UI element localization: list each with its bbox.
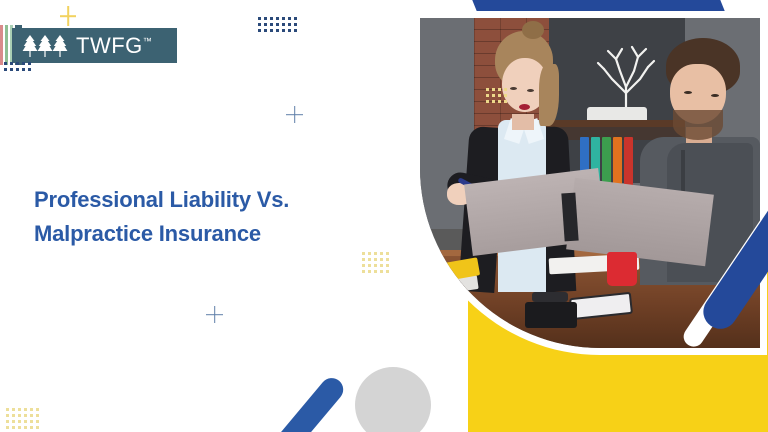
photo-man-eye-right — [711, 94, 719, 97]
brand-logo[interactable]: TWFG™ — [12, 28, 177, 63]
dot-grid-yellow-photo — [486, 88, 514, 110]
dot-grid-blue-logo — [4, 62, 36, 76]
photo-red-cup — [607, 252, 637, 286]
photo-man-beard — [673, 110, 723, 140]
dot-grid-yellow-middle — [362, 252, 396, 280]
logo-text: TWFG — [76, 35, 143, 57]
photo-man-eye-left — [684, 91, 692, 94]
dot-grid-yellow-bottom — [6, 408, 42, 432]
photo-stamp-block — [525, 302, 577, 328]
page-title: Professional Liability Vs. Malpractice I… — [34, 183, 364, 251]
sparkle-plus-icon — [60, 6, 76, 26]
dot-grid-blue-top — [258, 17, 300, 39]
photo-woman-lips — [519, 104, 530, 110]
photo-document-clip — [561, 192, 578, 241]
page-title-line1: Professional Liability Vs. — [34, 187, 289, 212]
photo-stamp-handle — [532, 292, 568, 302]
photo-woman-eye-right — [527, 89, 534, 92]
plus-icon-upper — [286, 106, 303, 123]
photo-woman-neck — [512, 114, 534, 130]
logo-wordmark: TWFG™ — [76, 35, 152, 57]
blue-diagonal-bar-shape — [271, 373, 348, 432]
hero-image-composition — [408, 0, 768, 432]
photo-woman-hair-side — [539, 64, 559, 126]
banner-canvas: TWFG™ — [0, 0, 768, 432]
plus-icon-lower — [206, 306, 223, 323]
three-pine-trees-icon — [22, 34, 68, 58]
page-title-line2: Malpractice Insurance — [34, 217, 364, 251]
logo-trademark: ™ — [143, 37, 153, 46]
